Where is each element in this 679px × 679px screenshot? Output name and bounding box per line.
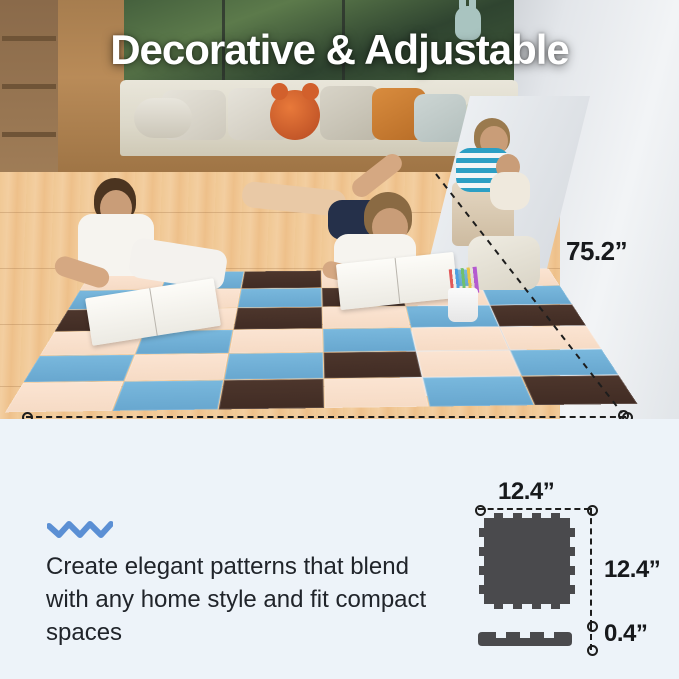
spec-label-width: 12.4” — [498, 478, 554, 506]
foam-tile-side-view — [478, 628, 590, 650]
mat-tile-blue — [24, 355, 134, 382]
shelf-board — [2, 84, 56, 89]
spec-dimension-line-top — [478, 508, 590, 510]
lifestyle-photo: 75.2” 75.2” Decorative & Adjustable — [0, 0, 679, 470]
spec-label-height: 12.4” — [604, 556, 660, 584]
dimension-line-depth — [420, 170, 640, 420]
shelf-board — [2, 132, 56, 137]
product-infographic: 75.2” 75.2” Decorative & Adjustable Crea… — [0, 0, 679, 679]
mat-tile-brown — [323, 351, 422, 378]
mat-tile-cream — [124, 353, 228, 380]
bolster-pillow — [134, 98, 192, 138]
mat-tile-blue — [323, 328, 416, 352]
spec-label-thickness: 0.4” — [604, 620, 647, 648]
mat-tile-blue — [112, 380, 223, 411]
mat-tile-brown — [219, 379, 324, 410]
mat-tile-blue — [238, 288, 321, 308]
zigzag-wave-icon — [47, 519, 113, 539]
mat-tile-cream — [5, 381, 123, 412]
teddy-bear — [270, 90, 320, 140]
dimension-label-depth: 75.2” — [566, 236, 627, 267]
mat-tile-cream — [229, 329, 322, 353]
foam-tile-top-view — [478, 512, 590, 624]
spec-endpoint — [587, 645, 598, 656]
mat-tile-brown — [234, 307, 322, 329]
spec-dimension-line-right — [590, 508, 592, 626]
mat-tile-blue — [224, 352, 323, 379]
mat-tile-cream — [324, 378, 429, 408]
wave-divider — [0, 418, 679, 504]
pillow — [320, 86, 380, 140]
page-title: Decorative & Adjustable — [0, 26, 679, 74]
feature-text: Create elegant patterns that blend with … — [46, 550, 446, 649]
